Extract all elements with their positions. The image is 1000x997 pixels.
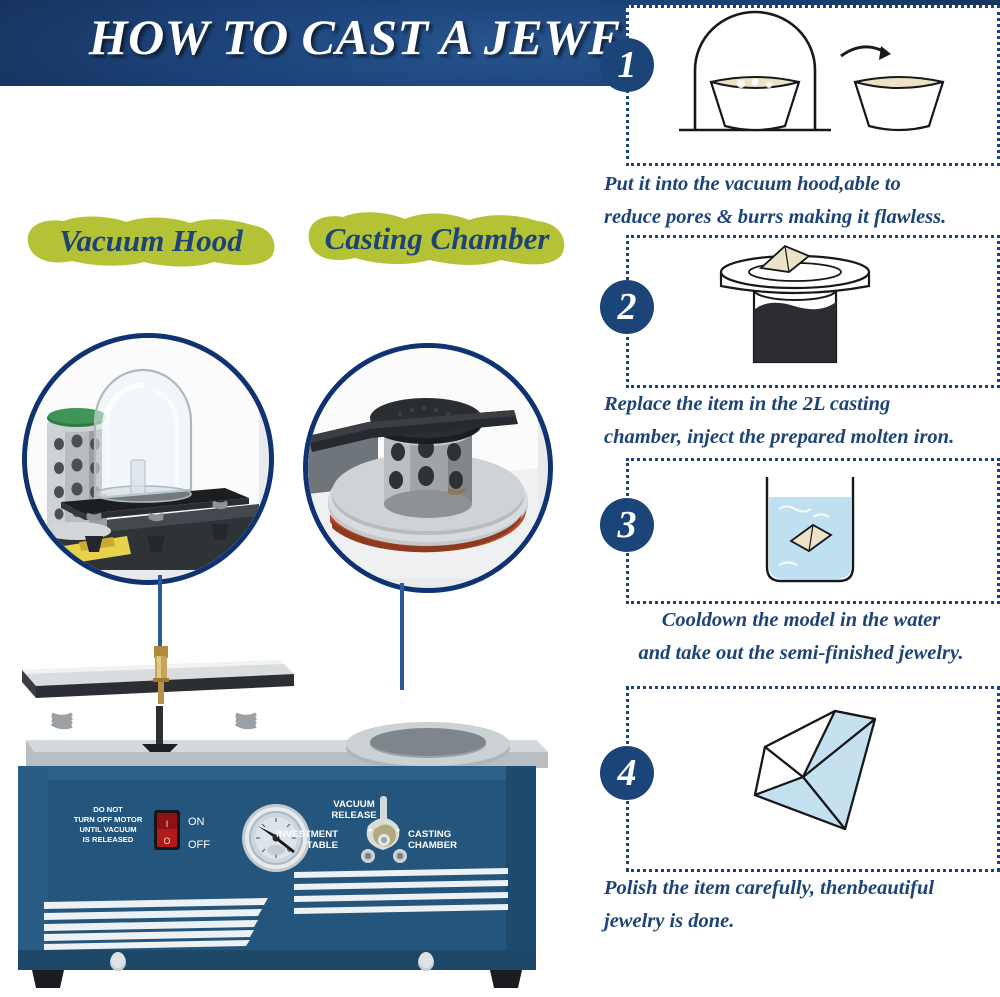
step-4-caption-line1: Polish the item carefully, thenbeautiful — [604, 872, 998, 905]
valve-investment-table-line2: TABLE — [307, 840, 339, 851]
step-1-caption-line2: reduce pores & burrs making it flawless. — [604, 201, 998, 234]
switch-on-label: ON — [188, 816, 205, 828]
label-vacuum-hood: Vacuum Hood — [22, 212, 280, 270]
step-1-number: 1 — [600, 38, 654, 92]
polished-gem-icon — [629, 689, 991, 863]
machine-illustration-icon: DO NOT TURN OFF MOTOR UNTIL VACUUM IS RE… — [8, 640, 556, 992]
warning-line-1: DO NOT — [93, 805, 123, 814]
valve-vacuum-release-line2: RELEASE — [331, 810, 377, 821]
step-3-illustration-box — [626, 458, 1000, 604]
power-switch-icon: I O — [154, 810, 180, 850]
step-4-illustration-box — [626, 686, 1000, 872]
svg-text:O: O — [163, 836, 170, 846]
warning-line-4: IS RELEASED — [83, 835, 134, 844]
svg-text:I: I — [166, 819, 169, 829]
vacuum-hood-inset-photo — [22, 333, 274, 585]
step-2-caption-line1: Replace the item in the 2L casting — [604, 388, 998, 421]
label-casting-chamber-text: Casting Chamber — [325, 221, 550, 257]
step-4-caption: Polish the item carefully, thenbeautiful… — [604, 872, 998, 938]
step-3-caption: Cooldown the model in the water and take… — [604, 604, 998, 670]
casting-chamber-icon — [629, 238, 991, 379]
valve-casting-chamber-line2: CHAMBER — [408, 840, 457, 851]
label-casting-chamber: Casting Chamber — [303, 208, 571, 270]
step-1-caption: Put it into the vacuum hood,able to redu… — [604, 168, 998, 234]
valve-vacuum-release-line1: VACUUM — [333, 799, 374, 810]
vacuum-hood-illustration-icon — [27, 338, 259, 570]
step-3-number: 3 — [600, 498, 654, 552]
vacuum-dome-and-flask-icon — [629, 8, 991, 157]
casting-chamber-illustration-icon — [308, 348, 538, 578]
label-vacuum-hood-text: Vacuum Hood — [59, 223, 242, 259]
step-2-caption-line2: chamber, inject the prepared molten iron… — [604, 421, 998, 454]
step-2-number: 2 — [600, 280, 654, 334]
warning-line-2: TURN OFF MOTOR — [74, 815, 143, 824]
step-4-number: 4 — [600, 746, 654, 800]
step-1-illustration-box — [626, 5, 1000, 166]
water-bath-gem-icon — [629, 461, 991, 595]
valve-casting-chamber-line1: CASTING — [408, 829, 451, 840]
step-2-illustration-box — [626, 235, 1000, 388]
machine-feet — [32, 970, 522, 988]
warning-line-3: UNTIL VACUUM — [79, 825, 136, 834]
casting-chamber-inset-photo — [303, 343, 553, 593]
vacuum-casting-machine: DO NOT TURN OFF MOTOR UNTIL VACUUM IS RE… — [8, 640, 556, 992]
step-2-caption: Replace the item in the 2L casting chamb… — [604, 388, 998, 454]
valve-investment-table-line1: INVESTMENT — [276, 829, 338, 840]
step-4-caption-line2: jewelry is done. — [604, 905, 998, 938]
step-3-caption-line2: and take out the semi-finished jewelry. — [604, 637, 998, 670]
switch-off-label: OFF — [188, 839, 210, 851]
step-1-caption-line1: Put it into the vacuum hood,able to — [604, 168, 998, 201]
step-3-caption-line1: Cooldown the model in the water — [604, 604, 998, 637]
